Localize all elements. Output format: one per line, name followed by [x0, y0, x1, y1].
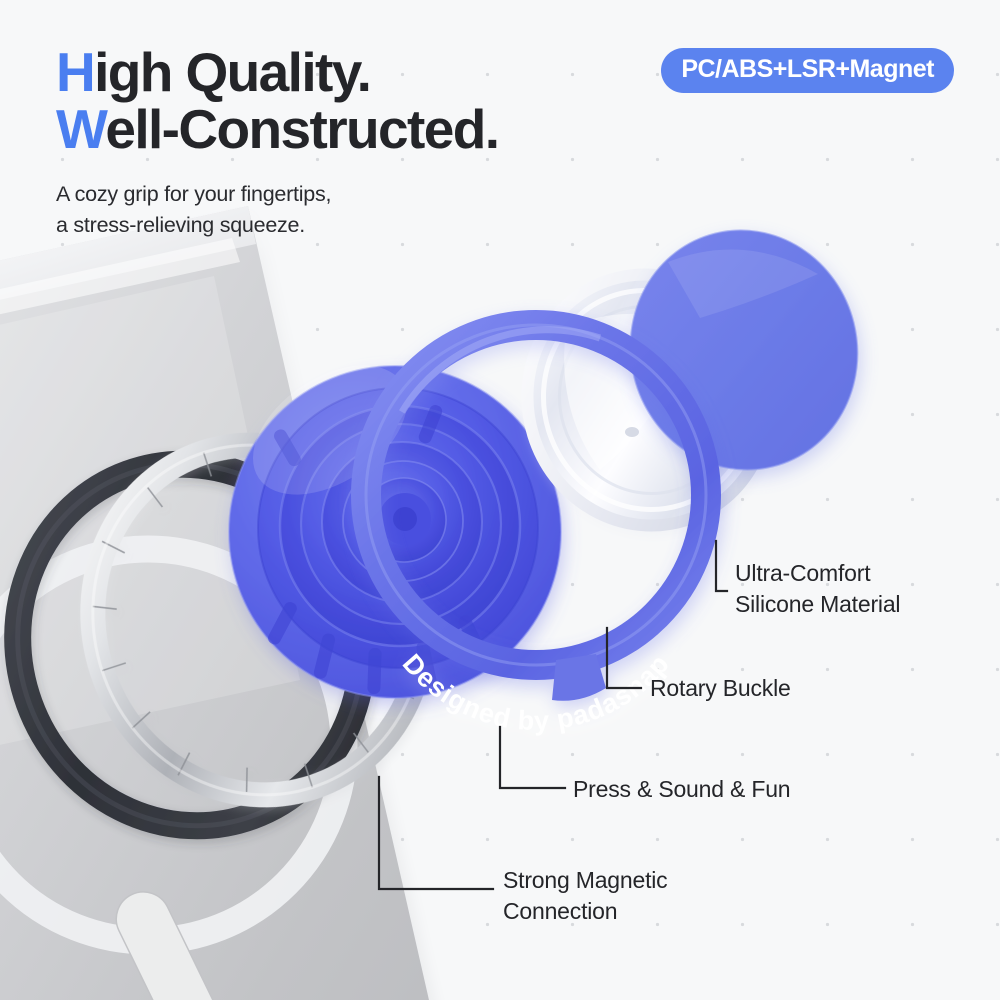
material-badge: PC/ABS+LSR+Magnet	[661, 48, 954, 93]
headline-line-1: High Quality.	[56, 44, 498, 101]
callout-label-rotary-buckle: Rotary Buckle	[650, 673, 791, 704]
headline-rest-2: ell-Constructed.	[105, 98, 498, 160]
callout-label-press-sound-fun: Press & Sound & Fun	[573, 774, 790, 805]
subtitle-text: A cozy grip for your fingertips, a stres…	[56, 179, 498, 240]
callout-label-ultra-comfort-silicone-material: Ultra-Comfort Silicone Material	[735, 558, 900, 619]
headline-line-2: Well-Constructed.	[56, 101, 498, 158]
headline-accent-h: H	[56, 41, 94, 103]
callout-label-strong-magnetic-connection: Strong Magnetic Connection	[503, 865, 667, 926]
header-block: High Quality. Well-Constructed. A cozy g…	[56, 44, 498, 240]
headline-accent-w: W	[56, 98, 105, 160]
headline-rest-1: igh Quality.	[94, 41, 370, 103]
